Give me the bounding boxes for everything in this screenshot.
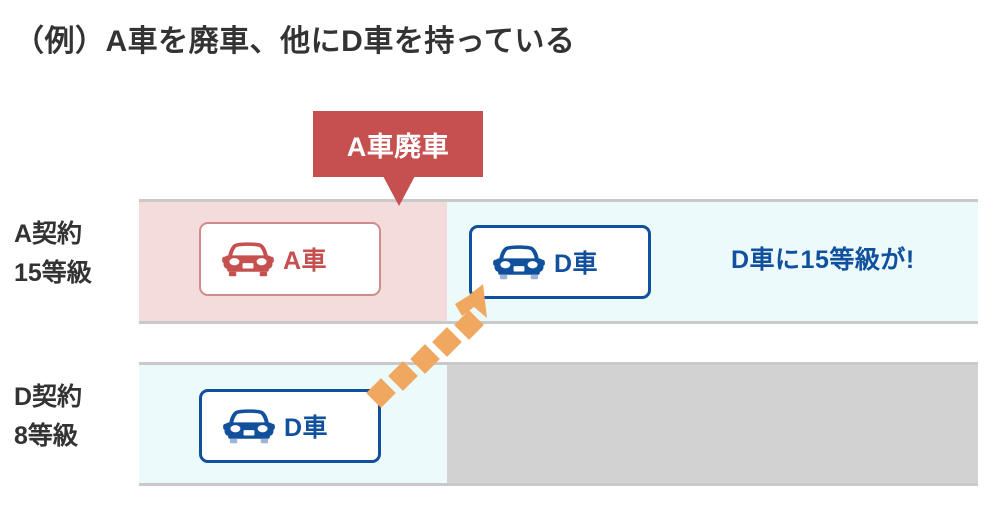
- row-label-a-contract-line1: A契約: [14, 215, 134, 254]
- callout-tail-icon: [383, 176, 415, 206]
- row-label-d-contract: D契約 8等級: [14, 378, 134, 456]
- row-label-d-contract-line1: D契約: [14, 378, 134, 417]
- row-label-d-contract-line2: 8等級: [14, 417, 134, 456]
- car-front-icon: [220, 404, 278, 448]
- result-note-d-car-grade: D車に15等級が!: [731, 240, 915, 276]
- car-front-icon: [490, 240, 548, 284]
- callout-label: A車廃車: [347, 125, 450, 164]
- page-title: （例）A車を廃車、他にD車を持っている: [14, 16, 575, 60]
- car-chip-d-car-top-label: D車: [554, 244, 598, 280]
- band-d-contract-right: [447, 365, 978, 483]
- car-chip-a-car-label: A車: [283, 241, 327, 277]
- diagram-canvas: （例）A車を廃車、他にD車を持っている A契約 15等級 D契約 8等級 A車廃…: [0, 0, 1004, 516]
- car-front-icon: [219, 237, 277, 281]
- car-chip-d-car-top[interactable]: D車: [469, 225, 651, 299]
- callout-a-car-scrapped: A車廃車: [313, 111, 483, 177]
- row-label-a-contract-line2: 15等級: [14, 254, 134, 293]
- car-chip-d-car-bottom[interactable]: D車: [199, 389, 381, 463]
- car-chip-a-car[interactable]: A車: [199, 222, 381, 296]
- car-chip-d-car-bottom-label: D車: [284, 408, 328, 444]
- row-label-a-contract: A契約 15等級: [14, 215, 134, 293]
